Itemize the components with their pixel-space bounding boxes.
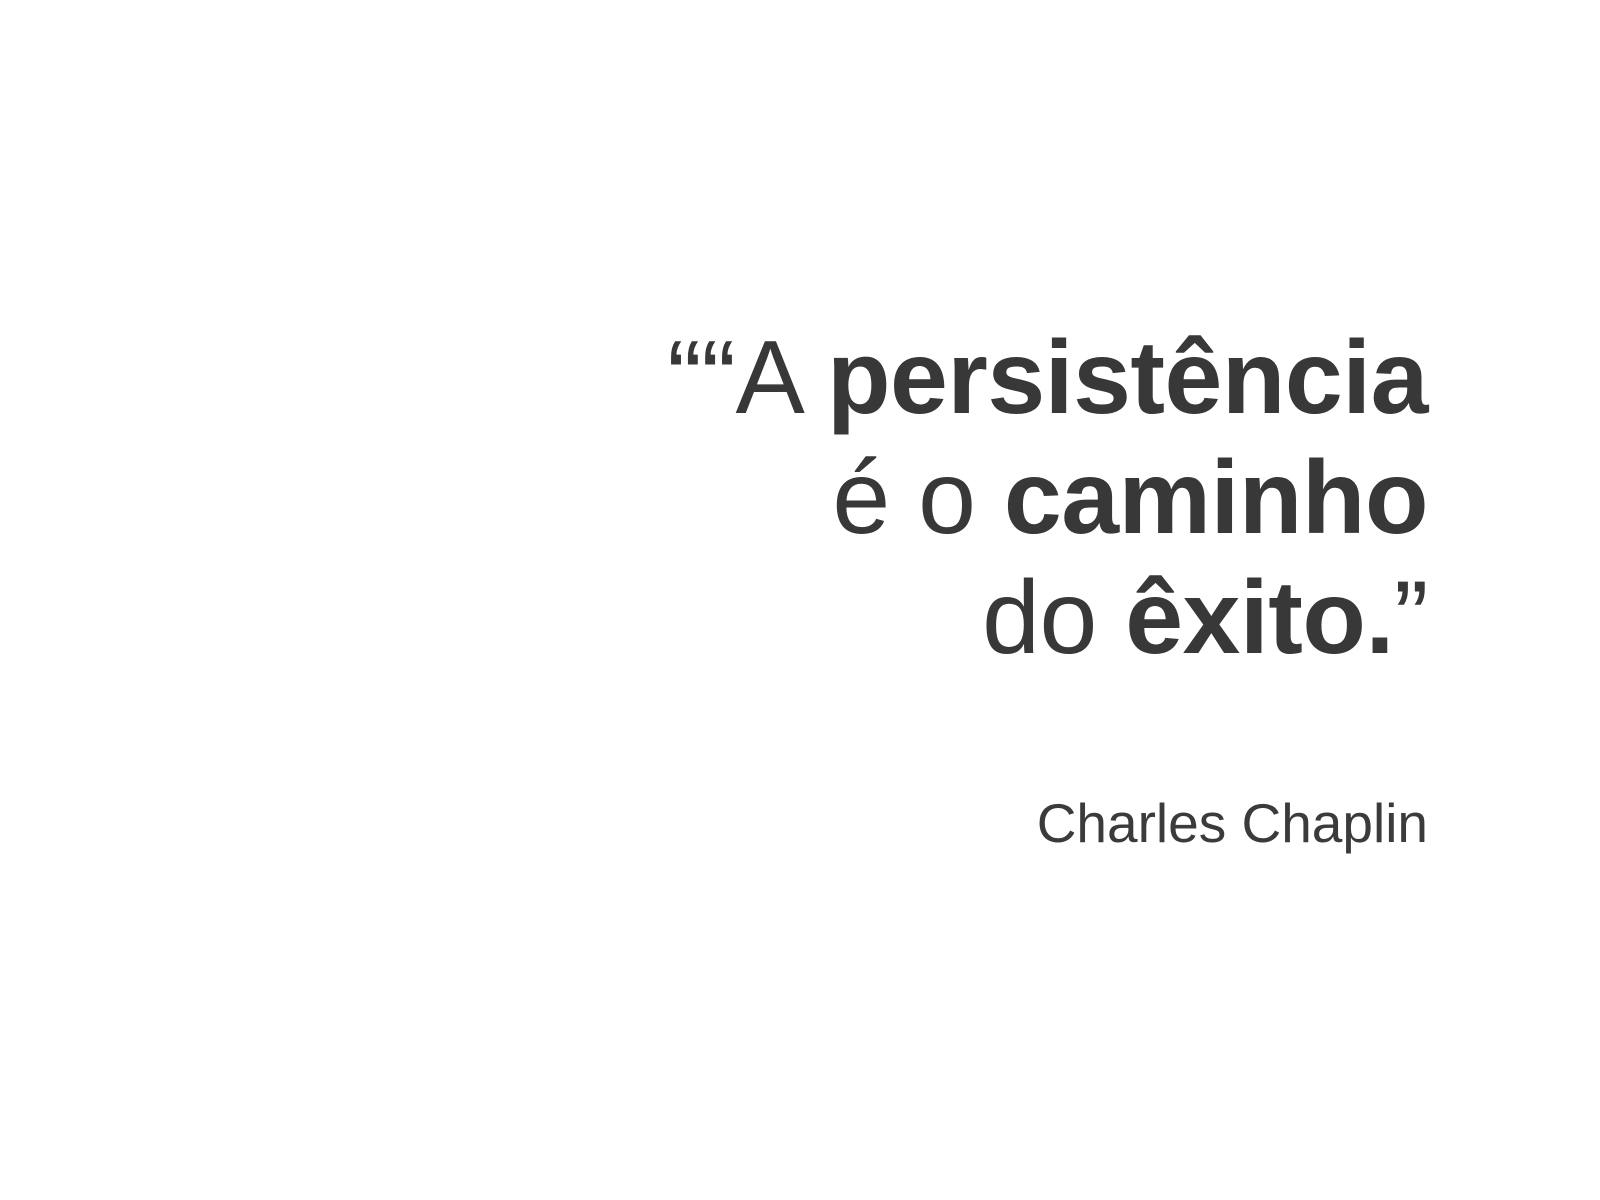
quote-attribution-author: Charles Chaplin	[528, 792, 1428, 854]
quote-line-3-emphasis: êxito.	[1125, 560, 1394, 676]
quote-block: ““A persistênciaé o caminhodo êxito.”	[528, 318, 1428, 678]
open-quote-mark: “	[667, 320, 701, 436]
quote-line-1-emphasis: persistência	[827, 320, 1428, 436]
quote-line-2-plain: é o	[832, 440, 1003, 556]
quote-line-1-plain: “A	[701, 320, 827, 436]
quote-slide: ““A persistênciaé o caminhodo êxito.” Ch…	[0, 0, 1600, 1200]
quote-text: ““A persistênciaé o caminhodo êxito.”	[528, 318, 1428, 678]
quote-line-2-emphasis: caminho	[1004, 440, 1428, 556]
quote-line-3-plain: do	[982, 560, 1125, 676]
close-quote-mark: ”	[1394, 560, 1428, 676]
